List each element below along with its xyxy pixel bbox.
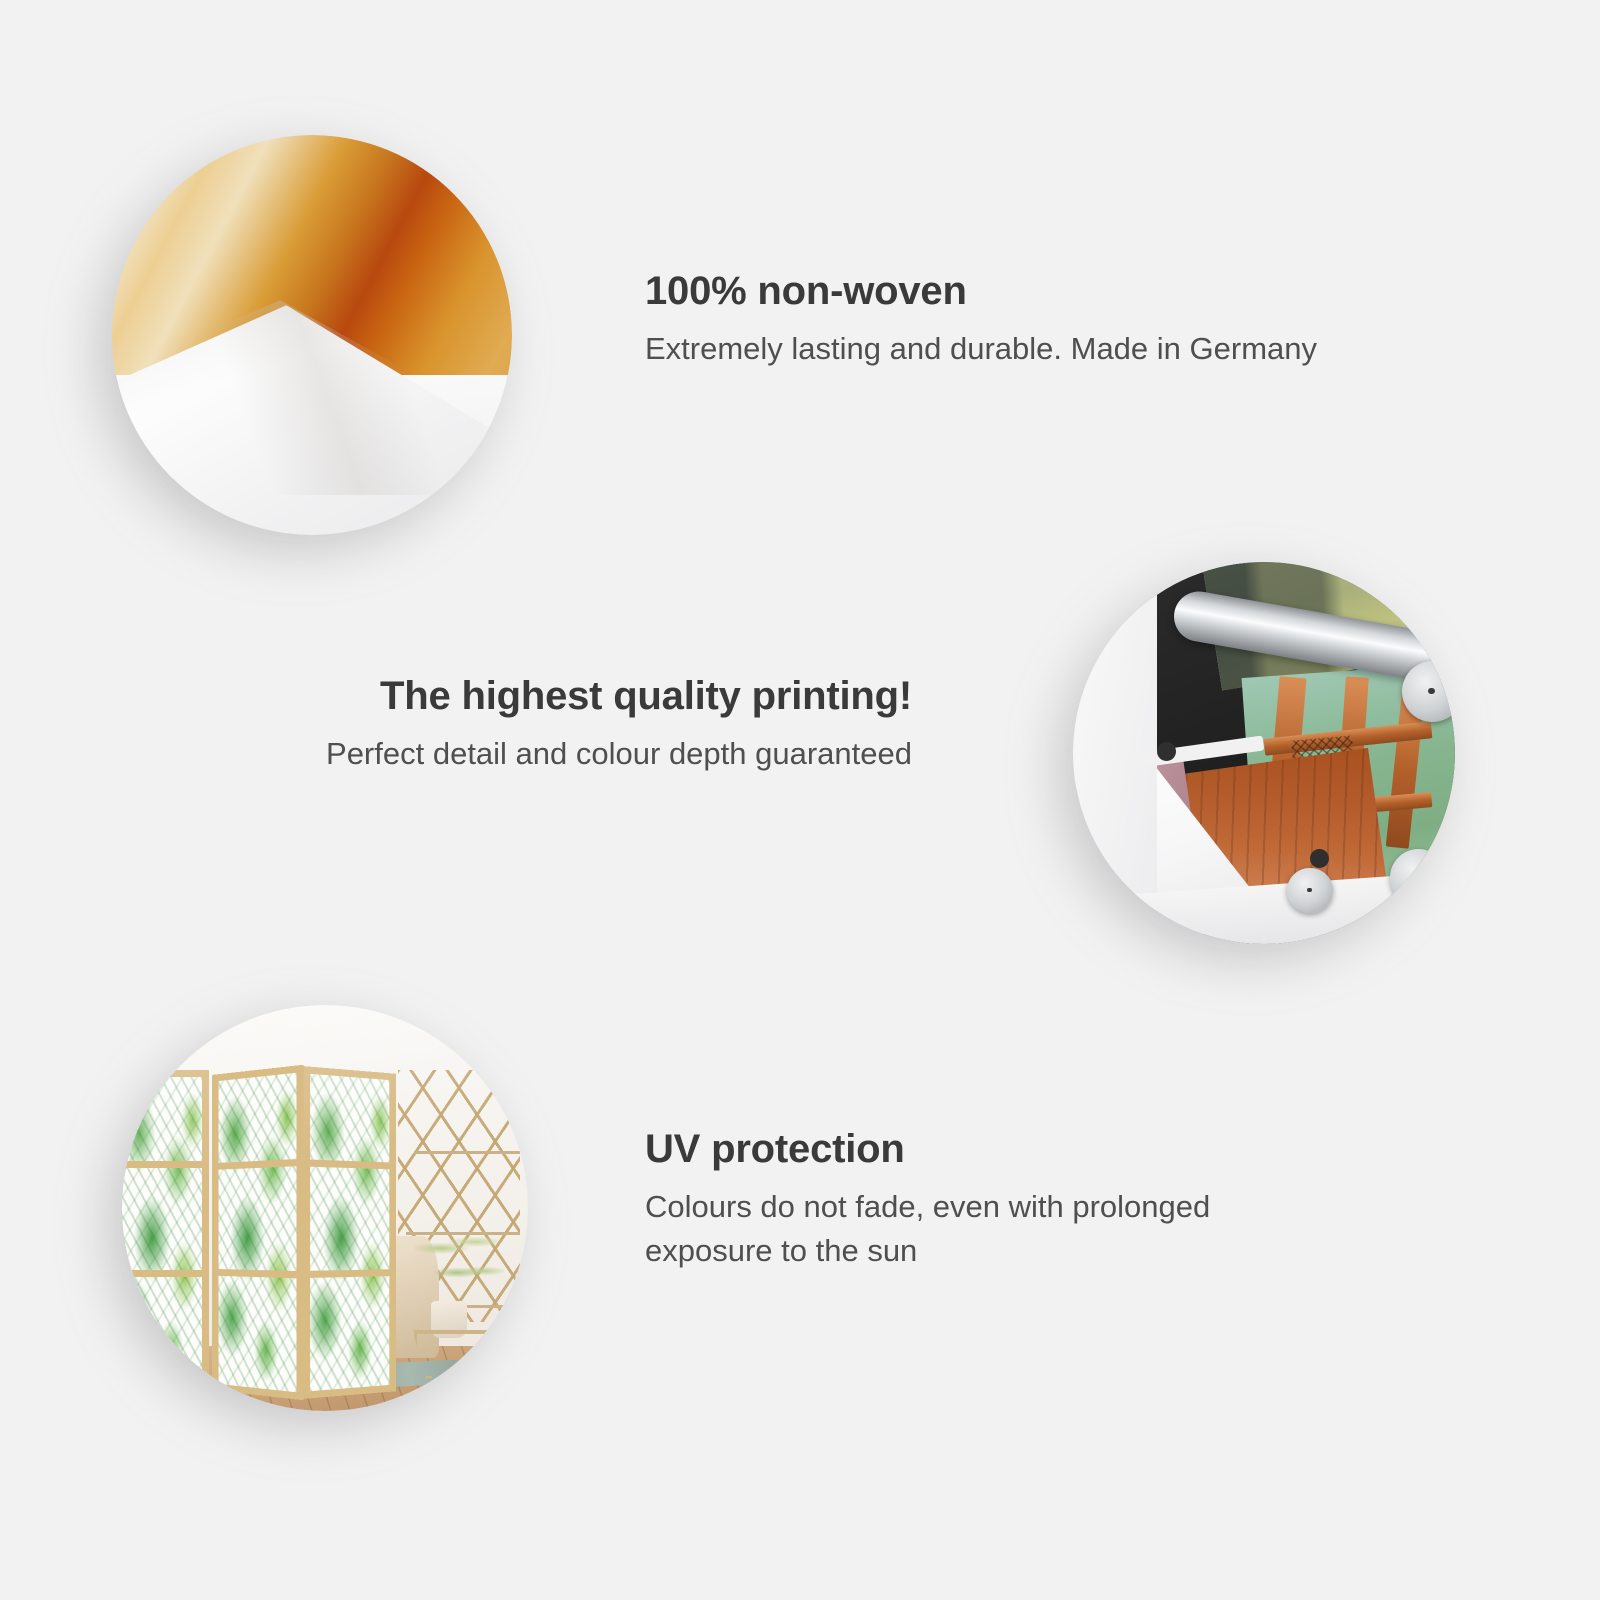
- divider-panel: [303, 1066, 396, 1399]
- press-knob: [1310, 849, 1329, 868]
- roller-end-cap: [1287, 868, 1333, 914]
- divider-panel: [122, 1070, 209, 1395]
- shelf-plank: [414, 1151, 520, 1154]
- feature-headline: 100% non-woven: [645, 268, 1325, 315]
- infographic-canvas: 100% non-woven Extremely lasting and dur…: [0, 0, 1600, 1600]
- palm-plant-fronds: [414, 1224, 503, 1305]
- roller-end-cap: [1390, 849, 1447, 906]
- feature-subtext: Perfect detail and colour depth guarante…: [300, 732, 912, 776]
- panel-crossbar: [310, 1159, 389, 1169]
- room-divider-screen: [122, 1070, 398, 1395]
- feature-headline: UV protection: [645, 1126, 1265, 1173]
- tropical-room-divider-photo: [122, 1005, 528, 1411]
- panel-crossbar: [122, 1161, 202, 1168]
- feature-subtext: Extremely lasting and durable. Made in G…: [645, 327, 1325, 371]
- divider-panel: [212, 1065, 303, 1400]
- photo-inner: [122, 1005, 528, 1411]
- feature-text-uv-protection: UV protection Colours do not fade, even …: [645, 1126, 1265, 1273]
- photo-inner: [112, 135, 512, 535]
- printing-press-photo: [1073, 562, 1455, 944]
- feature-text-non-woven: 100% non-woven Extremely lasting and dur…: [645, 268, 1325, 371]
- feature-text-quality-printing: The highest quality printing! Perfect de…: [300, 673, 912, 776]
- panel-crossbar: [122, 1270, 202, 1277]
- panel-crossbar: [218, 1159, 296, 1170]
- photo-inner: [1073, 562, 1455, 944]
- peeling-wallpaper-photo: [112, 135, 512, 535]
- feature-headline: The highest quality printing!: [300, 673, 912, 720]
- panel-crossbar: [310, 1269, 389, 1278]
- panel-crossbar: [218, 1269, 296, 1278]
- feature-subtext: Colours do not fade, even with prolonged…: [645, 1185, 1265, 1273]
- press-knob: [1157, 742, 1176, 761]
